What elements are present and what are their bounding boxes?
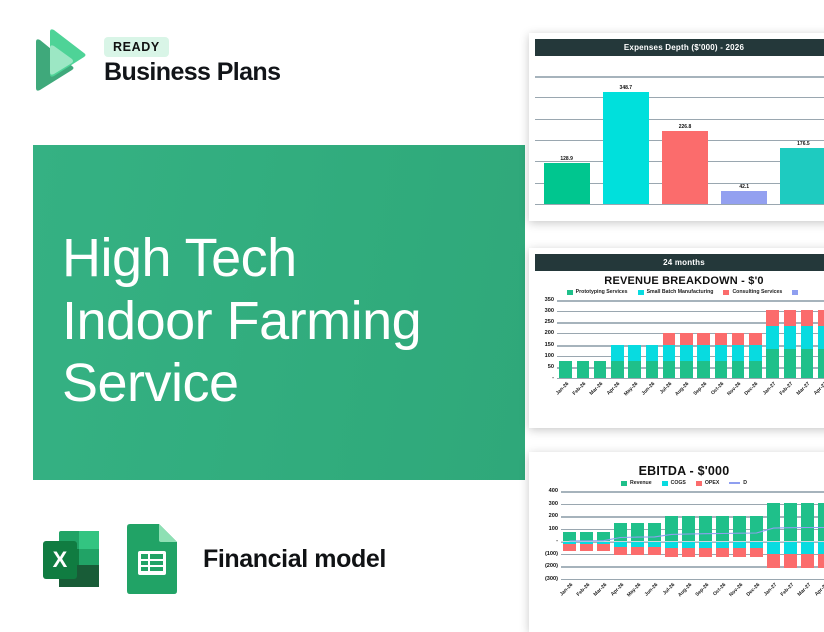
chart2-x-tick-label: Sep-26 [692, 381, 708, 397]
chart1-bar-value-label: 348.7 [596, 85, 655, 91]
chart2-bar-segment[interactable] [766, 349, 778, 378]
chart3-legend-swatch [729, 482, 740, 484]
chart3-x-tick: Apr-27 [816, 581, 824, 607]
ready-badge: READY [104, 37, 169, 57]
chart2-x-tick-label: Mar-27 [796, 381, 812, 397]
chart1-bar[interactable] [544, 163, 590, 204]
chart2-bar-column[interactable] [626, 345, 643, 378]
chart2-legend-label: Prototyping Services [576, 289, 628, 295]
chart2-bar-segment[interactable] [697, 345, 709, 361]
chart3-x-tick-label: Mar-27 [796, 582, 812, 598]
chart2-bar-segment[interactable] [818, 310, 824, 326]
chart2-legend-item[interactable]: Consulting Services [723, 289, 782, 295]
chart2-legend-swatch [723, 290, 729, 295]
chart1-bar-value-label: 128.9 [537, 156, 596, 162]
chart3-legend-label: D [743, 480, 747, 486]
chart2-bar-segment[interactable] [715, 333, 727, 346]
chart2-bar-segment[interactable] [749, 361, 761, 378]
chart1-bar-value-label: 42.1 [715, 184, 774, 190]
brand-logo-block: READY Business Plans [28, 28, 280, 94]
chart2-bar-segment[interactable] [663, 361, 675, 378]
chart3-x-tick: Mar-27 [799, 581, 816, 607]
chart2-bar-segment[interactable] [628, 345, 640, 361]
chart2-y-tick-label: 350 [535, 297, 554, 303]
chart2-bar-segment[interactable] [732, 361, 744, 378]
chart2-bar-segment[interactable] [628, 361, 640, 378]
chart2-legend: Prototyping ServicesSmall Batch Manufact… [529, 287, 824, 296]
chart1-bar-value-label: 176.5 [774, 141, 824, 147]
chart2-bar-column[interactable] [574, 361, 591, 378]
google-sheets-icon [121, 523, 183, 595]
chart2-x-tick-label: Jan-27 [761, 381, 776, 396]
chart2-y-tick-label: - [535, 375, 554, 381]
chart2-x-tick: Sep-26 [695, 380, 712, 406]
chart3-legend-item[interactable]: Revenue [621, 480, 652, 486]
chart2-x-tick-label: Aug-26 [674, 381, 690, 397]
chart2-x-tick-label: May-26 [623, 381, 639, 397]
chart2-bar-column[interactable] [643, 345, 660, 378]
chart2-bar-segment[interactable] [559, 361, 571, 378]
chart2-y-tick-label: 100 [535, 353, 554, 359]
chart2-legend-swatch [567, 290, 573, 295]
chart1-bar-value-label: 226.8 [655, 124, 714, 130]
chart2-x-tick-label: Feb-26 [571, 381, 587, 397]
chart2-bar-segment[interactable] [680, 361, 692, 378]
chart2-bar-column[interactable] [592, 361, 609, 378]
chart3-legend: RevenueCOGSOPEXD [529, 478, 824, 487]
chart2-x-tick-label: Mar-26 [589, 381, 605, 397]
chart3-x-tick-label: Feb-26 [575, 582, 591, 598]
microsoft-excel-icon: X [35, 523, 107, 595]
chart3-x-tick-label: Sep-26 [694, 582, 710, 598]
chart2-bar-segment[interactable] [801, 349, 813, 378]
chart1-bar-column[interactable]: 42.1 [715, 191, 774, 204]
chart3-legend-swatch [696, 481, 702, 486]
chart2-bar-segment[interactable] [646, 361, 658, 378]
chart-card-ebitda[interactable]: EBITDA - $'000 RevenueCOGSOPEXD 40030020… [529, 452, 824, 632]
chart2-bar-segment[interactable] [594, 361, 606, 378]
chart1-bar[interactable] [721, 191, 767, 204]
chart2-bar-column[interactable] [695, 333, 712, 378]
chart3-x-tick: Sep-26 [697, 581, 714, 607]
chart2-y-tick-label: 150 [535, 342, 554, 348]
chart2-x-tick-label: Dec-26 [744, 381, 760, 397]
chart2-x-tick-label: Jun-26 [640, 381, 656, 397]
brand-wordmark: READY Business Plans [104, 37, 280, 85]
chart2-legend-label: Consulting Services [732, 289, 782, 295]
chart2-bar-column[interactable] [816, 310, 824, 378]
chart2-bar-column[interactable] [712, 333, 729, 378]
chart3-legend-swatch [621, 481, 627, 486]
chart1-bar[interactable] [780, 148, 824, 204]
chart3-x-tick-label: Feb-27 [779, 582, 795, 598]
chart2-legend-item[interactable] [792, 290, 801, 295]
chart3-title: EBITDA - $'000 [529, 464, 824, 478]
chart2-bar-segment[interactable] [818, 349, 824, 378]
chart2-y-tick-label: 300 [535, 308, 554, 314]
chart2-bar-segment[interactable] [611, 361, 623, 378]
chart1-plot-area: 128.9348.7226.842.1176.5 [535, 62, 824, 212]
hero-title-line-3: Service [62, 352, 505, 415]
chart2-bar-column[interactable] [781, 310, 798, 378]
chart2-plot-area: 35030025020015010050-Jan-26Feb-26Mar-26A… [535, 296, 824, 404]
chart2-x-tick: Jun-26 [643, 380, 660, 406]
chart2-legend-label: Small Batch Manufacturing [647, 289, 714, 295]
chart3-legend-label: Revenue [630, 480, 652, 486]
chart2-x-tick-label: Apr-27 [813, 381, 824, 396]
chart2-x-tick-label: Nov-26 [726, 381, 742, 397]
chart2-bar-column[interactable] [661, 333, 678, 378]
chart3-x-tick-label: Jan-26 [558, 582, 573, 597]
hero-title-line-1: High Tech [62, 227, 505, 290]
chart3-legend-label: COGS [671, 480, 686, 486]
chart2-bar-segment[interactable] [646, 345, 658, 361]
chart2-bar-segment[interactable] [663, 333, 675, 346]
chart2-gridline [557, 378, 824, 379]
financial-model-label: Financial model [203, 545, 386, 574]
chart2-legend-swatch [638, 290, 644, 295]
chart2-bar-segment[interactable] [680, 345, 692, 361]
chart2-bar-segment[interactable] [766, 310, 778, 326]
chart2-bar-segment[interactable] [784, 349, 796, 378]
chart3-legend-item[interactable]: COGS [662, 480, 686, 486]
chart2-legend-swatch [792, 290, 798, 295]
chart3-x-tick-label: Jun-26 [643, 582, 659, 598]
chart3-legend-swatch [662, 481, 668, 486]
chart3-x-tick-label: Oct-26 [711, 582, 726, 597]
chart2-bar-column[interactable] [764, 310, 781, 378]
chart3-legend-item[interactable]: D [729, 480, 747, 486]
chart2-bar-column[interactable] [747, 333, 764, 378]
chart2-period-bar: 24 months [535, 254, 824, 271]
page-title: High Tech Indoor Farming Service [62, 227, 505, 415]
chart2-legend-item[interactable]: Prototyping Services [567, 289, 628, 295]
chart2-bar-segment[interactable] [766, 326, 778, 349]
chart2-bar-segment[interactable] [577, 361, 589, 378]
chart3-x-tick-label: Dec-26 [745, 582, 761, 598]
chart3-legend-label: OPEX [705, 480, 719, 486]
chart3-x-tick: Jun-26 [646, 581, 663, 607]
chart2-legend-item[interactable]: Small Batch Manufacturing [638, 289, 714, 295]
chart2-bar-segment[interactable] [732, 333, 744, 346]
chart2-x-tick-label: Feb-27 [778, 381, 794, 397]
chart2-y-tick-label: 50 [535, 364, 554, 370]
play-triangle-logo-icon [28, 28, 90, 94]
chart2-bar-column[interactable] [678, 333, 695, 378]
chart3-x-tick-label: Jan-27 [762, 582, 777, 597]
chart3-x-tick-label: Mar-26 [592, 582, 608, 598]
chart3-legend-item[interactable]: OPEX [696, 480, 719, 486]
chart1-gridline [535, 204, 824, 205]
chart2-bar-segment[interactable] [715, 361, 727, 378]
chart1-bar[interactable] [662, 131, 708, 204]
chart2-bar-segment[interactable] [697, 361, 709, 378]
chart1-bar-column[interactable]: 176.5 [774, 148, 824, 204]
chart2-bar-segment[interactable] [749, 333, 761, 346]
financial-model-row: X Financial model [35, 523, 386, 595]
chart2-x-tick: Apr-27 [816, 380, 824, 406]
chart1-bar-column[interactable]: 348.7 [596, 92, 655, 204]
chart2-bar-segment[interactable] [732, 345, 744, 361]
chart2-bar-segment[interactable] [784, 310, 796, 326]
hero-title-line-2: Indoor Farming [62, 290, 505, 353]
chart2-y-tick-label: 200 [535, 330, 554, 336]
chart2-bar-segment[interactable] [801, 326, 813, 349]
chart2-bar-column[interactable] [799, 310, 816, 378]
chart2-bar-column[interactable] [730, 333, 747, 378]
hero-panel: High Tech Indoor Farming Service [33, 145, 525, 480]
chart2-bar-column[interactable] [557, 361, 574, 378]
chart3-x-tick-label: Jul-26 [661, 582, 675, 596]
chart3-plot-area: 400300200100-(100)(200)(300)Jan-26Feb-26… [535, 487, 824, 605]
chart-card-expenses-depth[interactable]: Expenses Depth ($'000) - 2026 128.9348.7… [529, 33, 824, 221]
chart1-title-bar: Expenses Depth ($'000) - 2026 [535, 39, 824, 56]
chart2-title: REVENUE BREAKDOWN - $'0 [529, 275, 824, 287]
chart2-bar-segment[interactable] [611, 345, 623, 361]
chart2-x-tick-label: Jan-26 [554, 381, 569, 396]
chart2-bar-segment[interactable] [663, 345, 675, 361]
chart2-x-tick-label: Jul-26 [659, 381, 673, 395]
chart3-x-tick: Mar-26 [595, 581, 612, 607]
chart2-bar-segment[interactable] [784, 326, 796, 349]
chart2-x-tick-label: Oct-26 [710, 381, 725, 396]
chart2-bar-segment[interactable] [801, 310, 813, 326]
chart1-bar-column[interactable]: 128.9 [537, 163, 596, 204]
chart2-bar-column[interactable] [609, 345, 626, 378]
chart2-bar-segment[interactable] [715, 345, 727, 361]
chart1-bar-column[interactable]: 226.8 [655, 131, 714, 204]
chart2-bar-segment[interactable] [697, 333, 709, 346]
chart1-bar[interactable] [603, 92, 649, 204]
chart3-x-tick-label: Apr-26 [609, 582, 624, 597]
chart3-x-tick-label: Nov-26 [728, 582, 744, 598]
svg-text:X: X [53, 547, 68, 572]
chart2-y-tick-label: 250 [535, 319, 554, 325]
chart2-x-tick: Dec-26 [747, 380, 764, 406]
chart-card-revenue-breakdown[interactable]: 24 months REVENUE BREAKDOWN - $'0 Protot… [529, 248, 824, 428]
chart2-bar-segment[interactable] [818, 326, 824, 349]
chart2-x-tick-label: Apr-26 [606, 381, 621, 396]
chart3-x-tick: Dec-26 [748, 581, 765, 607]
chart2-bar-segment[interactable] [680, 333, 692, 346]
chart2-bar-segment[interactable] [749, 345, 761, 361]
brand-name: Business Plans [104, 59, 280, 85]
